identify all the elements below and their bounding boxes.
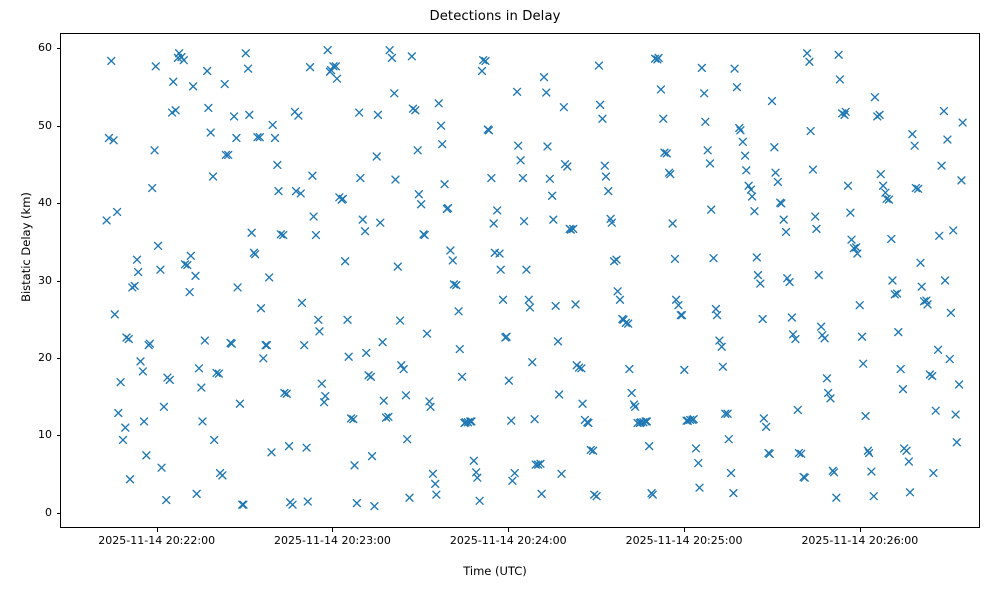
scatter-point (221, 81, 228, 88)
scatter-point (856, 302, 863, 309)
scatter-point (115, 410, 122, 417)
scatter-point (438, 122, 445, 129)
scatter-point (307, 64, 314, 71)
y-tick-label: 30 (6, 275, 52, 287)
scatter-point (322, 393, 329, 400)
x-tick-mark (860, 528, 861, 532)
scatter-point (310, 213, 317, 220)
scatter-point (899, 386, 906, 393)
scatter-point (708, 206, 715, 213)
scatter-point (959, 119, 966, 126)
scatter-point (845, 182, 852, 189)
scatter-point (953, 439, 960, 446)
scatter-point (823, 375, 830, 382)
scatter-point (903, 447, 910, 454)
scatter-point (660, 115, 667, 122)
scatter-point (269, 121, 276, 128)
scatter-point (714, 312, 721, 319)
scatter-point (245, 65, 252, 72)
scatter-point (593, 493, 600, 500)
scatter-point (301, 342, 308, 349)
scatter-point (601, 162, 608, 169)
scatter-point (108, 57, 115, 64)
scatter-point (859, 333, 866, 340)
scatter-point (476, 497, 483, 504)
scatter-point (275, 188, 282, 195)
y-axis-label: Bistatic Delay (km) (19, 127, 33, 367)
scatter-point (356, 109, 363, 116)
y-tick-label: 50 (6, 120, 52, 132)
scatter-point (135, 269, 142, 276)
y-tick-label: 0 (6, 507, 52, 519)
scatter-point (432, 480, 439, 487)
scatter-point (602, 173, 609, 180)
scatter-point (114, 208, 121, 215)
scatter-point (158, 464, 165, 471)
scatter-point (693, 445, 700, 452)
scatter-point (888, 235, 895, 242)
scatter-point (936, 232, 943, 239)
scatter-point (718, 343, 725, 350)
scatter-point (646, 443, 653, 450)
scatter-point (488, 175, 495, 182)
scatter-point (671, 255, 678, 262)
scatter-point (760, 415, 767, 422)
scatter-point (848, 236, 855, 243)
scatter-point (932, 407, 939, 414)
scatter-point (418, 201, 425, 208)
scatter-point (813, 225, 820, 232)
scatter-point (449, 257, 456, 264)
scatter-point (309, 172, 316, 179)
scatter-point (763, 423, 770, 430)
scatter-point (298, 299, 305, 306)
scatter-point (137, 358, 144, 365)
scatter-point (546, 175, 553, 182)
scatter-point (549, 192, 556, 199)
scatter-point (614, 288, 621, 295)
scatter-point (701, 90, 708, 97)
scatter-point (344, 316, 351, 323)
x-tick-mark (332, 528, 333, 532)
scatter-point (769, 98, 776, 105)
scatter-point (759, 316, 766, 323)
scatter-point (725, 436, 732, 443)
scatter-point (613, 256, 620, 263)
scatter-point (447, 247, 454, 254)
scatter-point (560, 104, 567, 111)
scatter-point (531, 416, 538, 423)
scatter-point (459, 373, 466, 380)
scatter-point (572, 301, 579, 308)
scatter-point (812, 213, 819, 220)
scatter-point (429, 470, 436, 477)
x-tick-label: 2025-11-14 20:23:00 (232, 534, 432, 547)
scatter-point (807, 128, 814, 135)
scatter-point (233, 135, 240, 142)
scatter-point (751, 208, 758, 215)
scatter-point (958, 177, 965, 184)
scatter-point (125, 336, 132, 343)
scatter-point (794, 406, 801, 413)
scatter-point (351, 462, 358, 469)
scatter-point (669, 220, 676, 227)
scatter-point (103, 217, 110, 224)
x-tick-mark (684, 528, 685, 532)
scatter-point (386, 47, 393, 54)
scatter-point (880, 182, 887, 189)
scatter-point (353, 500, 360, 507)
scatter-point (860, 360, 867, 367)
scatter-point (260, 355, 267, 362)
scatter-point (783, 228, 790, 235)
scatter-point (246, 111, 253, 118)
scatter-point (163, 497, 170, 504)
scatter-point (170, 78, 177, 85)
scatter-point (333, 75, 340, 82)
scatter-point (392, 176, 399, 183)
scatter-point (628, 389, 635, 396)
scatter-point (698, 64, 705, 71)
scatter-point (555, 338, 562, 345)
chart-title: Detections in Delay (0, 9, 990, 24)
scatter-point (415, 191, 422, 198)
scatter-point (835, 51, 842, 58)
scatter-point (847, 209, 854, 216)
scatter-point (657, 86, 664, 93)
scatter-point (242, 50, 249, 57)
scatter-point (494, 207, 501, 214)
scatter-point (696, 484, 703, 491)
scatter-point (204, 67, 211, 74)
scatter-point (479, 67, 486, 74)
scatter-point (207, 129, 214, 136)
scatter-point (172, 107, 179, 114)
scatter-point (956, 381, 963, 388)
scatter-point (456, 346, 463, 353)
scatter-point (944, 136, 951, 143)
scatter-point (809, 166, 816, 173)
scatter-point (595, 62, 602, 69)
scatter-point (702, 118, 709, 125)
scatter-point (866, 450, 873, 457)
scatter-point (905, 458, 912, 465)
scatter-point (274, 161, 281, 168)
scatter-point (394, 263, 401, 270)
scatter-point (406, 494, 413, 501)
scatter-point (918, 283, 925, 290)
scatter-point (911, 142, 918, 149)
scatter-point (940, 108, 947, 115)
scatter-point (529, 359, 536, 366)
scatter-point (122, 424, 129, 431)
scatter-point (474, 474, 481, 481)
scatter-point (950, 227, 957, 234)
scatter-point (111, 311, 118, 318)
scatter-point (295, 112, 302, 119)
scatter-point (947, 309, 954, 316)
scatter-point (315, 316, 322, 323)
scatter-point (391, 90, 398, 97)
scatter-point (134, 256, 141, 263)
x-tick-mark (508, 528, 509, 532)
x-axis-label: Time (UTC) (0, 564, 990, 578)
scatter-point (131, 282, 138, 289)
scatter-point (632, 403, 639, 410)
scatter-point (155, 242, 162, 249)
scatter-point (119, 436, 126, 443)
scatter-point (371, 503, 378, 510)
scatter-point (815, 272, 822, 279)
scatter-point (357, 175, 364, 182)
scatter-point (193, 490, 200, 497)
scatter-point (754, 272, 761, 279)
scatter-point (318, 380, 325, 387)
scatter-point (737, 127, 744, 134)
scatter-point (605, 188, 612, 195)
scatter-point (359, 216, 366, 223)
scatter-point (151, 147, 158, 154)
scatter-point (525, 296, 532, 303)
scatter-point (544, 143, 551, 150)
scatter-point (397, 317, 404, 324)
scatter-point (719, 363, 726, 370)
scatter-point (312, 232, 319, 239)
scatter-point (427, 403, 434, 410)
scatter-point (500, 296, 507, 303)
scatter-point (509, 477, 516, 484)
scatter-point (195, 365, 202, 372)
scatter-point (303, 444, 310, 451)
scatter-point (239, 501, 246, 508)
scatter-point (552, 302, 559, 309)
scatter-point (677, 312, 684, 319)
scatter-point (543, 89, 550, 96)
scatter-point (257, 305, 264, 312)
scatter-point (219, 472, 226, 479)
scatter-point (739, 138, 746, 145)
y-tick-label: 10 (6, 429, 52, 441)
scatter-point (728, 470, 735, 477)
scatter-point (127, 476, 134, 483)
scatter-point (157, 266, 164, 273)
plot-area (60, 33, 980, 528)
scatter-point (716, 337, 723, 344)
y-tick-label: 20 (6, 352, 52, 364)
scatter-point (707, 160, 714, 167)
scatter-point (234, 284, 241, 291)
scatter-point (704, 147, 711, 154)
scatter-point (236, 400, 243, 407)
scatter-point (374, 111, 381, 118)
scatter-point (289, 501, 296, 508)
scatter-point (871, 94, 878, 101)
scatter-point (231, 113, 238, 120)
scatter-point (868, 468, 875, 475)
scatter-point (424, 330, 431, 337)
scatter-point (263, 342, 270, 349)
scatter-point (160, 403, 167, 410)
scatter-point (889, 277, 896, 284)
scatter-point (404, 436, 411, 443)
scatter-point (210, 173, 217, 180)
scatter-point (470, 457, 477, 464)
scatter-point (117, 379, 124, 386)
scatter-point (272, 135, 279, 142)
scatter-point (433, 491, 440, 498)
scatter-point (864, 447, 871, 454)
scatter-point (523, 266, 530, 273)
scatter-point (558, 470, 565, 477)
scatter-point (626, 366, 633, 373)
scatter-point (439, 141, 446, 148)
scatter-point (414, 147, 421, 154)
scatter-point (363, 349, 370, 356)
scatter-point (631, 401, 638, 408)
scatter-point (836, 76, 843, 83)
scatter-point (377, 219, 384, 226)
scatter-point (895, 329, 902, 336)
scatter-point (870, 493, 877, 500)
x-tick-label: 2025-11-14 20:22:00 (57, 534, 257, 547)
scatter-point (526, 304, 533, 311)
scatter-point (262, 342, 269, 349)
scatter-point (143, 452, 150, 459)
scatter-point (369, 453, 376, 460)
scatter-point (186, 289, 193, 296)
scatter-point (733, 84, 740, 91)
scatter-point (266, 274, 273, 281)
scatter-point (205, 104, 212, 111)
scatter-point (564, 163, 571, 170)
scatter-point (771, 144, 778, 151)
scatter-point (497, 266, 504, 273)
scatter-point (149, 185, 156, 192)
scatter-point (192, 272, 199, 279)
scatter-point (757, 280, 764, 287)
scatter-point (180, 57, 187, 64)
scatter-point (876, 111, 883, 118)
scatter-point (597, 101, 604, 108)
scatter-point (455, 308, 462, 315)
scatter-point (952, 411, 959, 418)
scatter-point (198, 384, 205, 391)
scatter-point (521, 218, 528, 225)
scatter-point (681, 366, 688, 373)
scatter-point (240, 501, 247, 508)
scatter-point (736, 124, 743, 131)
scatter-point (806, 58, 813, 65)
scatter-point (833, 494, 840, 501)
scatter-point (731, 65, 738, 72)
scatter-point (408, 53, 415, 60)
scatter-point (268, 449, 275, 456)
scatter-point (877, 171, 884, 178)
scatter-point (517, 157, 524, 164)
scatter-point (780, 216, 787, 223)
scatter-point (917, 259, 924, 266)
scatter-point (938, 162, 945, 169)
scatter-point (496, 250, 503, 257)
scatter-point (141, 418, 148, 425)
matplotlib-figure: Detections in Delay 0102030405060 Bistat… (0, 0, 990, 590)
scatter-point (187, 252, 194, 259)
scatter-point (345, 353, 352, 360)
scatter-point (505, 377, 512, 384)
scatter-point (907, 489, 914, 496)
scatter-point (362, 228, 369, 235)
y-tick-label: 40 (6, 197, 52, 209)
y-tick-label: 60 (6, 42, 52, 54)
scatter-point (402, 392, 409, 399)
scatter-point (804, 50, 811, 57)
scatter-point (946, 356, 953, 363)
scatter-point (695, 460, 702, 467)
x-tick-mark (157, 528, 158, 532)
scatter-point (490, 220, 497, 227)
x-tick-label: 2025-11-14 20:24:00 (408, 534, 608, 547)
scatter-point (616, 296, 623, 303)
scatter-point (935, 346, 942, 353)
scatter-point (599, 115, 606, 122)
scatter-point (519, 175, 526, 182)
scatter-point (139, 368, 146, 375)
scatter-point (678, 312, 685, 319)
scatter-point (412, 107, 419, 114)
scatter-point (190, 83, 197, 90)
scatter-point (152, 63, 159, 70)
scatter-point (248, 229, 255, 236)
scatter-point (211, 436, 218, 443)
scatter-point (710, 255, 717, 262)
scatter-point (324, 47, 331, 54)
scatter-point (304, 498, 311, 505)
scatter-point (538, 490, 545, 497)
scatter-point (743, 167, 750, 174)
scatter-point (379, 339, 386, 346)
scatter-point (441, 181, 448, 188)
scatter-point (367, 373, 374, 380)
scatter-point (373, 153, 380, 160)
scatter-point (201, 337, 208, 344)
x-tick-label: 2025-11-14 20:26:00 (760, 534, 960, 547)
scatter-point (942, 277, 949, 284)
scatter-point (435, 100, 442, 107)
scatter-point (742, 152, 749, 159)
scatter-point (730, 490, 737, 497)
scatter-point (753, 254, 760, 261)
scatter-point (540, 74, 547, 81)
scatter-point (515, 142, 522, 149)
scatter-point (199, 418, 206, 425)
scatter-point (788, 314, 795, 321)
x-tick-label: 2025-11-14 20:25:00 (584, 534, 784, 547)
scatter-point (579, 400, 586, 407)
scatter-point (772, 169, 779, 176)
scatter-point (929, 373, 936, 380)
scatter-point (821, 335, 828, 342)
scatter-point (166, 376, 173, 383)
scatter-point (380, 397, 387, 404)
scatter-point (749, 193, 756, 200)
scatter-point (342, 258, 349, 265)
scatter-point (550, 216, 557, 223)
scatter-point (897, 366, 904, 373)
scatter-point (930, 470, 937, 477)
scatter-point (508, 417, 515, 424)
scatter-point (862, 413, 869, 420)
scatter-point (909, 131, 916, 138)
